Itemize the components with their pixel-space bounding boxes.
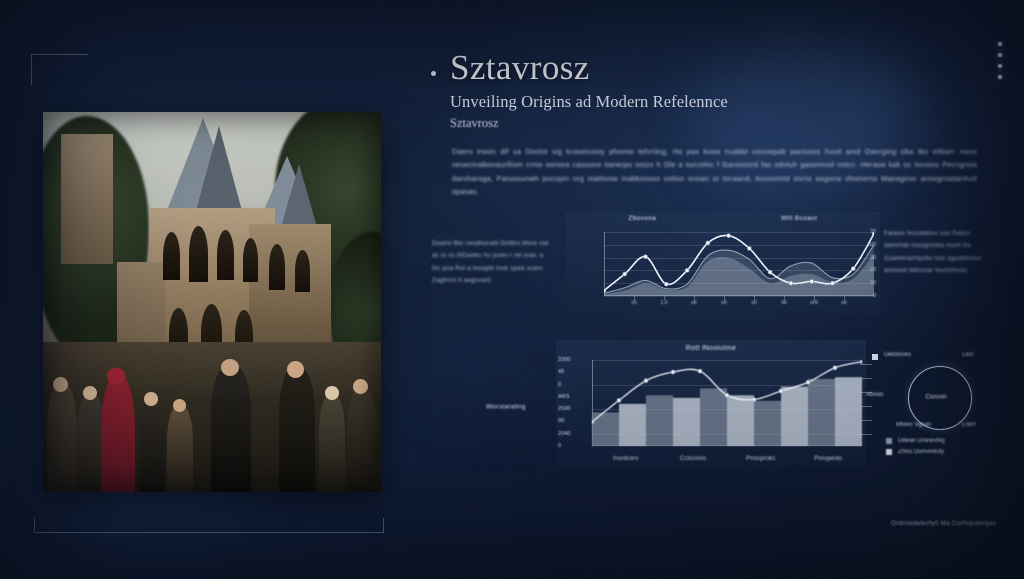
chart-1-gridline <box>604 245 874 246</box>
chart-2-gridline <box>592 385 862 386</box>
presentation-slide: Sztavrosz Unveiling Origins ad Modern Re… <box>0 0 1024 579</box>
chart-1-gridline <box>604 296 874 297</box>
chart-2-data-point <box>592 420 594 424</box>
chart-line-top: Zbovona Wlil Bcoaor 702/03060200 o51.0o6… <box>566 212 880 316</box>
chart-bar-bottom: Rott lNoolutine Worstarating 2000450ARS2… <box>556 340 866 468</box>
chart-2-category: Cciccionc <box>680 455 706 462</box>
sidenote-right: Faiwoo hruodativo soo fluhcn damrtsbi in… <box>884 228 984 278</box>
chart-1-x-tick: o0 <box>751 300 757 306</box>
chart-2-data-point <box>671 370 675 374</box>
sidenote-left: Doatre Bei ceoahocahi Dotbrs bfore cwi a… <box>432 238 552 288</box>
donut-legend: Odean Dranevtlig Zniss Dunvediuty <box>886 438 945 455</box>
chart-2-bar <box>727 395 754 446</box>
donut-label-mtoeo: Mtoeo Sgsan <box>896 422 931 428</box>
chart-1-x-tick: o0 <box>721 300 727 306</box>
donut-label-lnbrt: Lnbrt <box>962 422 976 428</box>
chart-1-x-tick: o5 <box>631 300 637 306</box>
chart-1-x-tick: o6 <box>691 300 697 306</box>
legend-swatch-icon <box>886 449 892 455</box>
chart-2-gridline <box>592 360 862 361</box>
chart-1-data-point <box>623 272 627 276</box>
chart-1-x-tick: o6 <box>841 300 847 306</box>
chart-2-y-tick: 0 <box>558 382 561 388</box>
donut-legend-label-1: Odean Dranevtlig <box>898 438 945 444</box>
chart-2-y-tick: 2000 <box>558 357 570 363</box>
legend-swatch-icon <box>886 438 892 444</box>
chart-2-bar <box>754 401 781 446</box>
body-paragraph: Daero trwon dif sa Doctot sig kcaoecooiy… <box>452 145 977 198</box>
donut-legend-item[interactable]: Odean Dranevtlig <box>886 438 945 444</box>
chart-2-bar <box>619 404 646 446</box>
gothic-chapel-crowd-photo <box>43 112 381 492</box>
chart-1-x-tick: 1.0 <box>661 300 668 306</box>
chart-2-y-tick: 0 <box>558 443 561 449</box>
chart-2-bar <box>673 398 700 446</box>
chart-1-x-tick: 06 <box>781 300 787 306</box>
chart-2-bar <box>592 412 619 446</box>
chart-1-data-point <box>604 289 606 293</box>
donut-top-legend-label: Oelsricres <box>884 352 911 358</box>
chart-2-data-point <box>725 393 729 397</box>
donut-label-abnon: Abnon <box>866 392 883 398</box>
chart-1-gridline <box>604 283 874 284</box>
chart-1-x-tick-labels: o51.0o6o0o006o05o6 <box>604 296 874 312</box>
chart-2-y-tick: 45 <box>558 369 564 375</box>
chart-2-category: Poropeotc <box>814 455 842 462</box>
chart-2-data-point <box>617 398 621 402</box>
chart-1-gridline <box>604 258 874 259</box>
chart-2-data-point <box>833 366 837 370</box>
chart-2-category-labels: InsrdcersCciccioncPnocprokcPoropeotc <box>592 450 862 464</box>
chart-1-header-b: Wlil Bcoaor <box>781 215 818 222</box>
chart-2-y-tick: ARS <box>558 394 570 400</box>
page-subtitle: Unveiling Origins ad Modern Refelennce <box>450 92 980 112</box>
donut-legend-item[interactable]: Zniss Dunvediuty <box>886 449 945 455</box>
chart-1-data-point <box>747 246 751 250</box>
chart-2-bar <box>835 377 862 446</box>
chart-2-bar <box>781 387 808 446</box>
chart-1-header-a: Zbovona <box>628 215 656 222</box>
chart-2-gridline <box>592 434 862 435</box>
headline-group: Sztavrosz Unveiling Origins ad Modern Re… <box>450 50 980 131</box>
chart-2-data-point <box>644 379 648 383</box>
chart-2-data-point <box>779 389 783 393</box>
corner-bracket-top-left <box>31 54 88 85</box>
slide-footer: Ordrnadwlezfy0 Ma Corhnjcdargas <box>891 520 996 527</box>
chart-2-bar <box>646 395 673 446</box>
page-title: Sztavrosz <box>450 50 980 87</box>
chart-2-data-point <box>752 398 756 402</box>
chart-1-gridline <box>604 232 874 233</box>
chart-2-data-point <box>698 369 702 373</box>
page-kicker: Sztavrosz <box>450 116 980 131</box>
chart-donut: Oelsricres Ciosnin Lesf Abnon Lnbrt Mtoe… <box>866 340 1006 468</box>
chart-2-y-axis-label: Worstarating <box>486 403 526 410</box>
corner-bracket-bottom <box>34 518 384 533</box>
chart-1-gridline <box>604 270 874 271</box>
chart-2-category: Insrdcers <box>613 455 638 462</box>
chart-2-y-tick: 2040 <box>558 431 570 437</box>
chart-1-data-point <box>727 234 731 238</box>
chart-2-category: Pnocprokc <box>746 455 775 462</box>
chart-2-bar <box>808 379 835 446</box>
chart-1-plot-area <box>604 232 874 296</box>
donut-top-legend-swatch <box>872 354 878 360</box>
donut-center-label: Ciosnin <box>866 394 1006 401</box>
chart-2-title: Rott lNoolutine <box>556 345 866 352</box>
chart-1-headers: Zbovona Wlil Bcoaor <box>566 215 880 222</box>
chart-2-bar <box>700 388 727 446</box>
donut-label-lesf: Lesf <box>962 352 973 358</box>
chart-2-y-tick: 2500 <box>558 406 570 412</box>
chart-2-y-tick: 00 <box>558 418 564 424</box>
vertical-dots-icon[interactable] <box>998 42 1002 79</box>
donut-legend-label-2: Zniss Dunvediuty <box>898 449 944 455</box>
chart-1-x-tick: o05 <box>810 300 818 306</box>
title-bullet-icon <box>431 71 436 76</box>
chart-2-gridline <box>592 409 862 410</box>
